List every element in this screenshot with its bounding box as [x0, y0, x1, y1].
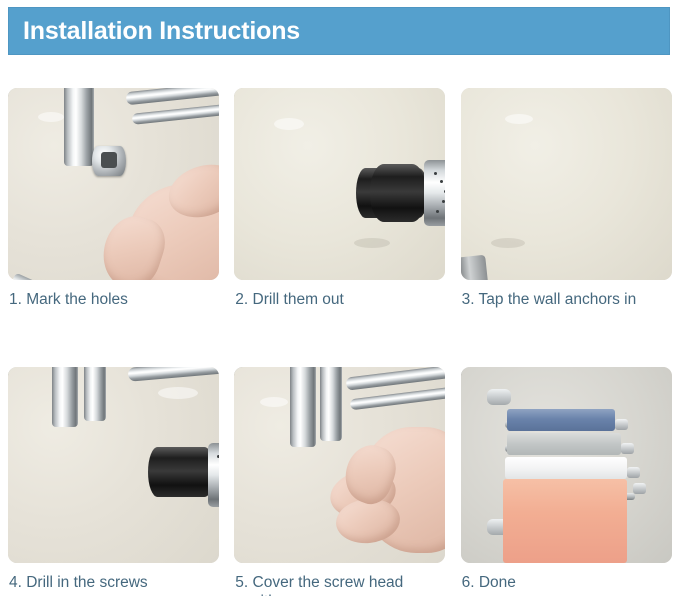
steps-row-top: 1. Mark the holes: [0, 84, 679, 309]
clutch-setting-dots: [215, 451, 219, 501]
wall-speck: [38, 112, 64, 122]
drill-chuck: [148, 447, 214, 497]
step-caption-4: 4. Drill in the screws: [0, 563, 226, 592]
rail-cap-top: [487, 389, 511, 405]
towel-white: [505, 457, 627, 479]
vertical-post-secondary: [320, 367, 342, 441]
step-caption-2: 2. Drill them out: [226, 280, 452, 309]
wall-background: [461, 88, 672, 280]
step-cell-3: 3. Tap the wall anchors in: [453, 84, 679, 309]
header-banner: Installation Instructions: [8, 7, 670, 55]
towel-grey: [507, 433, 621, 455]
step-image-1: [8, 88, 219, 280]
step-cell-1: 1. Mark the holes: [0, 84, 226, 309]
steps-grid: 1. Mark the holes: [0, 84, 679, 596]
wall-speck: [158, 387, 198, 399]
towel-peach: [503, 479, 627, 563]
step-cell-6: 6. Done: [453, 363, 679, 596]
installation-instructions-page: Installation Instructions: [0, 0, 679, 596]
drill-chuck-ridges: [370, 164, 426, 222]
vertical-post: [52, 367, 78, 427]
step-caption-5: 5. Cover the screw headwith screw caps: [226, 563, 452, 596]
step-caption-5-line1: 5. Cover the screw head: [235, 574, 403, 591]
vertical-post: [290, 367, 316, 447]
vertical-post: [64, 88, 94, 166]
step-caption-1: 1. Mark the holes: [0, 280, 226, 309]
step-cell-4: 4. Drill in the screws: [0, 363, 226, 596]
swing-arm-tip: [633, 483, 646, 494]
step-image-6: [461, 367, 672, 563]
clutch-setting-dots: [432, 168, 445, 220]
pivot-knob-center: [101, 152, 117, 168]
towel-blue: [507, 409, 615, 431]
step-caption-6: 6. Done: [453, 563, 679, 592]
wall-speck: [505, 114, 533, 124]
step-cell-5: 5. Cover the screw headwith screw caps: [226, 363, 452, 596]
swing-arm-tip: [621, 443, 634, 454]
page-title: Installation Instructions: [9, 17, 300, 46]
steps-row-bottom: 4. Drill in the screws: [0, 363, 679, 596]
step-caption-5-line2: with screw caps: [235, 592, 452, 596]
step-image-5: [234, 367, 445, 563]
step-caption-3: 3. Tap the wall anchors in: [453, 280, 679, 309]
step-image-4: [8, 367, 219, 563]
vertical-post-secondary: [84, 367, 106, 421]
step-image-2: [234, 88, 445, 280]
swing-arm-tip: [615, 419, 628, 430]
swing-arm-tip: [627, 467, 640, 478]
wall-speck: [491, 238, 525, 248]
step-cell-2: 2. Drill them out: [226, 84, 452, 309]
step-image-3: [461, 88, 672, 280]
